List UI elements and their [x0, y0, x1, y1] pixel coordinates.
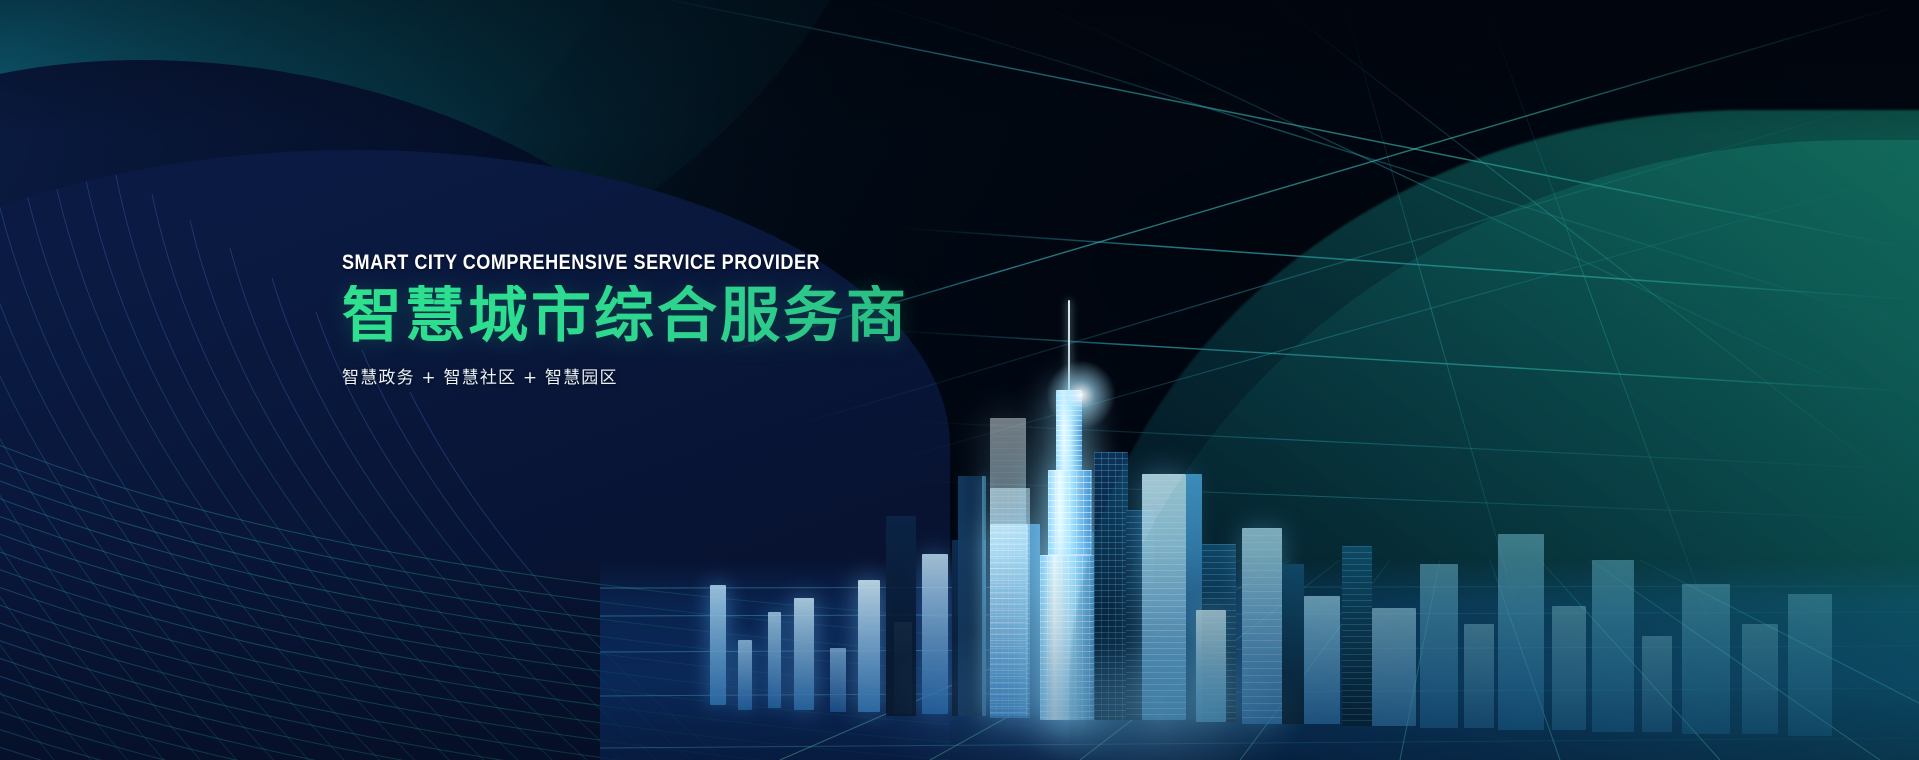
hero-subline: 智慧政务 + 智慧社区 + 智慧园区	[342, 363, 1122, 388]
hero-eyebrow: SMART CITY COMPREHENSIVE SERVICE PROVIDE…	[342, 252, 1013, 273]
hero-banner: SMART CITY COMPREHENSIVE SERVICE PROVIDE…	[0, 0, 1919, 760]
hero-headline: 智慧城市综合服务商	[342, 285, 1122, 349]
hero-copy: SMART CITY COMPREHENSIVE SERVICE PROVIDE…	[342, 252, 1122, 388]
